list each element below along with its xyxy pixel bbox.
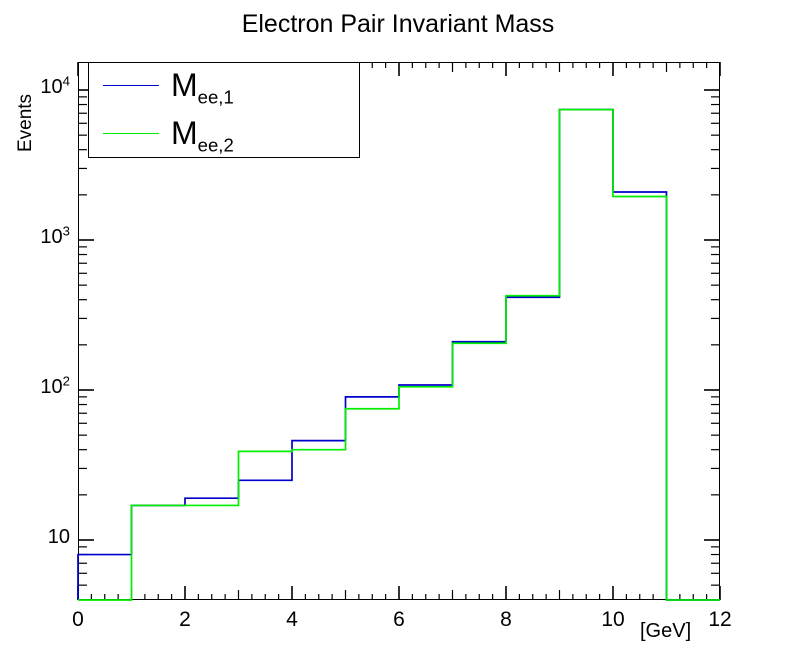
histogram-line-1 (78, 110, 720, 600)
legend-entry[interactable]: Mee,1 (89, 63, 359, 111)
root-canvas: Electron Pair Invariant Mass Events [GeV… (0, 0, 796, 672)
x-tick-label: 4 (272, 608, 312, 632)
y-tick-label: 10 (48, 526, 70, 549)
legend-label-series2: Mee,2 (171, 109, 234, 157)
histogram-line-2 (78, 110, 720, 600)
y-tick-label: 102 (40, 376, 70, 399)
legend-swatch-series1 (103, 85, 159, 86)
legend-entry[interactable]: Mee,2 (89, 111, 359, 159)
x-tick-label: 10 (593, 608, 633, 632)
histogram-series (78, 110, 720, 600)
x-tick-label: 12 (700, 608, 740, 632)
x-tick-label: 2 (165, 608, 205, 632)
x-tick-label: 6 (379, 608, 419, 632)
x-tick-label: 0 (58, 608, 98, 632)
y-tick-label: 104 (40, 76, 70, 99)
legend-swatch-series2 (103, 133, 159, 134)
x-tick-label: 8 (486, 608, 526, 632)
y-axis-ticks (78, 90, 720, 585)
legend-label-series1: Mee,1 (171, 61, 234, 109)
legend: Mee,1 Mee,2 (88, 62, 360, 158)
y-tick-label: 103 (40, 226, 70, 249)
